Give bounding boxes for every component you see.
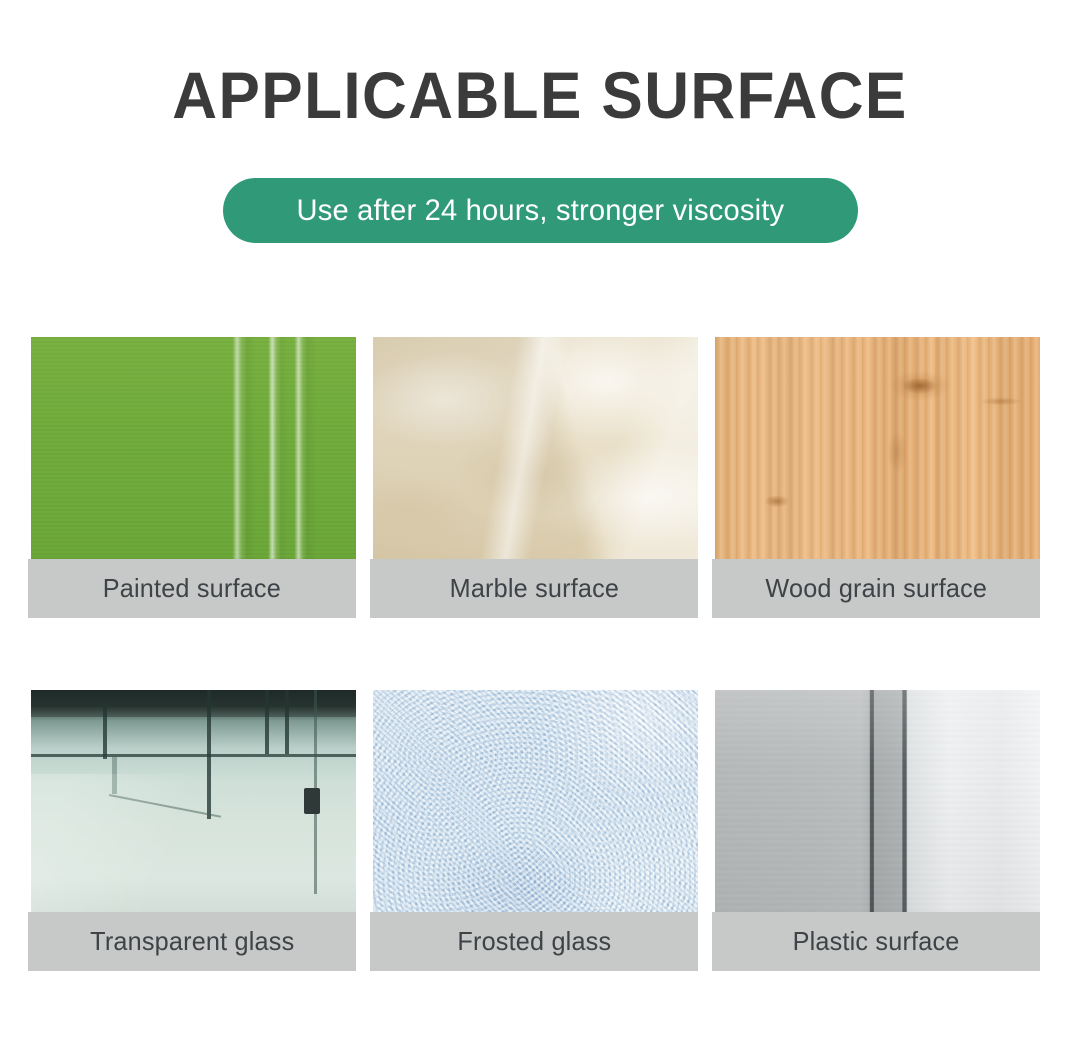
caption-bar: Frosted glass (370, 912, 698, 971)
marble-texture (373, 337, 698, 559)
badge-label: Use after 24 hours, stronger viscosity (296, 194, 784, 228)
surface-card-marble: Marble surface (370, 337, 698, 618)
surface-caption: Painted surface (103, 573, 281, 604)
wood-grain-texture (715, 337, 1040, 559)
glass-ceiling-band (31, 690, 356, 717)
header: APPLICABLE SURFACE (0, 0, 1080, 128)
plastic-surface-image (715, 690, 1040, 912)
surface-card-wood-grain: Wood grain surface (712, 337, 1040, 618)
frosted-glass-image (373, 690, 698, 912)
page-title: APPLICABLE SURFACE (32, 0, 1047, 128)
caption-bar: Painted surface (28, 559, 356, 618)
caption-bar: Wood grain surface (712, 559, 1040, 618)
glass-mullion-icon (265, 690, 269, 754)
caption-bar: Transparent glass (28, 912, 356, 971)
glass-reflection-overlay (31, 774, 356, 912)
transparent-glass-image (31, 690, 356, 912)
wood-grain-surface-image (715, 337, 1040, 559)
glass-mullion-icon (285, 690, 289, 754)
painted-texture (31, 337, 356, 559)
surface-card-painted: Painted surface (28, 337, 356, 618)
frosted-glass-texture (373, 690, 698, 912)
surface-caption: Wood grain surface (765, 573, 987, 604)
surface-caption: Marble surface (449, 573, 619, 604)
surface-card-plastic: Plastic surface (712, 690, 1040, 971)
glass-mullion-icon (103, 703, 107, 759)
surface-caption: Plastic surface (793, 926, 960, 957)
surface-grid: Painted surface Marble surface Wood grai… (28, 337, 1040, 971)
glass-horizontal-beam (31, 754, 356, 757)
marble-surface-image (373, 337, 698, 559)
transparent-glass-texture (31, 690, 356, 912)
surface-caption: Frosted glass (457, 926, 611, 957)
surface-card-transparent-glass: Transparent glass (28, 690, 356, 971)
caption-bar: Plastic surface (712, 912, 1040, 971)
badge-container: Use after 24 hours, stronger viscosity (0, 178, 1080, 243)
caption-bar: Marble surface (370, 559, 698, 618)
surface-caption: Transparent glass (90, 926, 294, 957)
painted-surface-image (31, 337, 356, 559)
viscosity-badge: Use after 24 hours, stronger viscosity (223, 178, 858, 243)
plastic-texture (715, 690, 1040, 912)
surface-card-frosted-glass: Frosted glass (370, 690, 698, 971)
